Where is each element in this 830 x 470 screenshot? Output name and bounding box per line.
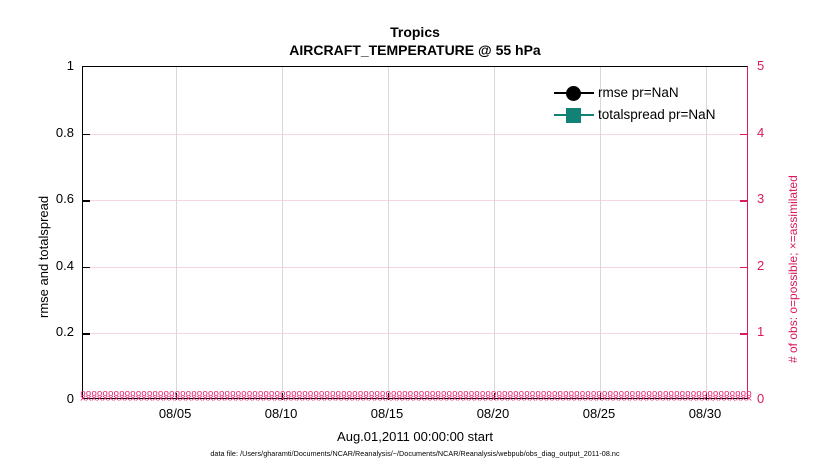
- obs-marker: o: [324, 390, 330, 399]
- obs-marker: o: [380, 390, 386, 399]
- obs-marker: o: [419, 390, 425, 399]
- obs-marker: ×: [346, 395, 354, 404]
- obs-marker: ×: [745, 395, 753, 404]
- obs-marker: ×: [507, 395, 515, 404]
- obs-marker: ×: [307, 395, 315, 404]
- obs-marker: ×: [329, 395, 337, 404]
- obs-marker: ×: [285, 395, 293, 404]
- obs-marker: ×: [584, 395, 592, 404]
- obs-marker: o: [197, 390, 203, 399]
- y-tick-label-left: 0: [34, 392, 74, 405]
- obs-marker: o: [657, 390, 663, 399]
- obs-marker: ×: [429, 395, 437, 404]
- obs-marker: o: [336, 390, 342, 399]
- obs-marker: o: [102, 390, 108, 399]
- obs-marker: o: [546, 390, 552, 399]
- obs-marker: ×: [373, 395, 381, 404]
- obs-marker: ×: [124, 395, 132, 404]
- x-tick-label: 08/30: [665, 407, 745, 420]
- obs-marker: o: [563, 390, 569, 399]
- obs-marker: ×: [312, 395, 320, 404]
- obs-marker: o: [191, 390, 197, 399]
- obs-marker: ×: [573, 395, 581, 404]
- obs-marker: o: [713, 390, 719, 399]
- obs-marker: ×: [712, 395, 720, 404]
- obs-marker: ×: [418, 395, 426, 404]
- obs-marker: ×: [656, 395, 664, 404]
- obs-marker: ×: [668, 395, 676, 404]
- obs-marker: o: [402, 390, 408, 399]
- obs-marker: ×: [479, 395, 487, 404]
- y-tick-label-right: 0: [757, 392, 797, 405]
- obs-marker: o: [330, 390, 336, 399]
- y-tick-label-right: 2: [757, 259, 797, 272]
- obs-marker: ×: [590, 395, 598, 404]
- obs-marker: o: [236, 390, 242, 399]
- obs-marker: o: [186, 390, 192, 399]
- obs-marker: ×: [96, 395, 104, 404]
- obs-marker: ×: [518, 395, 526, 404]
- obs-marker: o: [308, 390, 314, 399]
- obs-marker-band: oooooooooooooooooooooooooooooooooooooooo…: [83, 390, 747, 402]
- x-tick-label: 08/10: [241, 407, 321, 420]
- obs-marker: o: [108, 390, 114, 399]
- y-tick-label-right: 3: [757, 192, 797, 205]
- obs-marker: o: [652, 390, 658, 399]
- obs-marker: ×: [534, 395, 542, 404]
- obs-marker: ×: [618, 395, 626, 404]
- obs-marker: ×: [512, 395, 520, 404]
- obs-marker: o: [347, 390, 353, 399]
- obs-marker: ×: [729, 395, 737, 404]
- gridline-horizontal: [83, 333, 747, 334]
- obs-marker: ×: [740, 395, 748, 404]
- x-tick-mark: [388, 393, 389, 400]
- obs-marker: ×: [423, 395, 431, 404]
- obs-marker: o: [458, 390, 464, 399]
- obs-marker: ×: [706, 395, 714, 404]
- obs-marker: o: [463, 390, 469, 399]
- obs-marker: o: [485, 390, 491, 399]
- obs-marker: o: [313, 390, 319, 399]
- y-tick-label-left: 1: [34, 59, 74, 72]
- obs-marker: o: [541, 390, 547, 399]
- x-tick-label: 08/25: [559, 407, 639, 420]
- obs-marker: o: [397, 390, 403, 399]
- y-axis-label-left: rmse and totalspread: [36, 196, 51, 318]
- obs-marker: o: [619, 390, 625, 399]
- x-tick-label: 08/15: [347, 407, 427, 420]
- obs-marker: ×: [451, 395, 459, 404]
- obs-marker: ×: [601, 395, 609, 404]
- obs-marker: o: [352, 390, 358, 399]
- obs-marker: ×: [484, 395, 492, 404]
- obs-marker: o: [274, 390, 280, 399]
- chart-subtitle: AIRCRAFT_TEMPERATURE @ 55 hPa: [82, 41, 748, 59]
- obs-marker: o: [635, 390, 641, 399]
- obs-marker: ×: [401, 395, 409, 404]
- y-tick-mark-right: [740, 267, 747, 268]
- obs-marker: ×: [679, 395, 687, 404]
- obs-marker: ×: [235, 395, 243, 404]
- obs-marker: ×: [257, 395, 265, 404]
- obs-marker: ×: [251, 395, 259, 404]
- obs-marker: o: [435, 390, 441, 399]
- obs-marker: o: [452, 390, 458, 399]
- y-tick-label-left: 0.6: [34, 192, 74, 205]
- obs-marker: ×: [434, 395, 442, 404]
- obs-marker: ×: [190, 395, 198, 404]
- obs-marker: ×: [734, 395, 742, 404]
- obs-marker: ×: [340, 395, 348, 404]
- obs-marker: o: [163, 390, 169, 399]
- legend-marker-circle: [566, 86, 581, 101]
- obs-marker: o: [724, 390, 730, 399]
- obs-marker: o: [680, 390, 686, 399]
- gridline-vertical: [388, 67, 389, 398]
- chart-legend: rmse pr=NaNtotalspread pr=NaN: [554, 82, 739, 126]
- obs-marker: o: [607, 390, 613, 399]
- obs-marker: o: [358, 390, 364, 399]
- y-tick-mark-left: [83, 267, 90, 268]
- obs-marker: o: [691, 390, 697, 399]
- y-tick-label-right: 4: [757, 126, 797, 139]
- obs-marker: ×: [629, 395, 637, 404]
- obs-marker: o: [180, 390, 186, 399]
- obs-marker: ×: [457, 395, 465, 404]
- x-tick-mark: [600, 393, 601, 400]
- data-file-annotation: data file: /Users/gharamti/Documents/NCA…: [82, 449, 748, 458]
- obs-marker: o: [474, 390, 480, 399]
- obs-marker: ×: [151, 395, 159, 404]
- obs-marker: o: [730, 390, 736, 399]
- obs-marker: o: [213, 390, 219, 399]
- x-tick-label: 08/05: [135, 407, 215, 420]
- obs-marker: o: [552, 390, 558, 399]
- obs-marker: o: [130, 390, 136, 399]
- obs-marker: ×: [723, 395, 731, 404]
- x-tick-mark: [494, 393, 495, 400]
- obs-marker: ×: [262, 395, 270, 404]
- obs-marker: ×: [113, 395, 121, 404]
- obs-marker: o: [685, 390, 691, 399]
- obs-marker: ×: [407, 395, 415, 404]
- obs-marker: o: [519, 390, 525, 399]
- obs-marker: ×: [218, 395, 226, 404]
- y-tick-mark-left: [83, 200, 90, 201]
- obs-marker: o: [696, 390, 702, 399]
- obs-marker: ×: [568, 395, 576, 404]
- obs-marker: ×: [390, 395, 398, 404]
- obs-marker: o: [735, 390, 741, 399]
- obs-marker: o: [641, 390, 647, 399]
- y-tick-label-left: 0.2: [34, 325, 74, 338]
- y-tick-mark-right: [740, 200, 747, 201]
- obs-marker: o: [341, 390, 347, 399]
- obs-marker: ×: [301, 395, 309, 404]
- obs-marker: ×: [612, 395, 620, 404]
- y-tick-mark-left: [83, 134, 90, 135]
- obs-marker: o: [286, 390, 292, 399]
- obs-marker: o: [136, 390, 142, 399]
- obs-marker: ×: [162, 395, 170, 404]
- obs-marker: o: [585, 390, 591, 399]
- obs-marker: ×: [101, 395, 109, 404]
- obs-marker: ×: [90, 395, 98, 404]
- obs-marker: ×: [462, 395, 470, 404]
- y-tick-mark-right: [740, 134, 747, 135]
- obs-marker: o: [447, 390, 453, 399]
- obs-marker: ×: [85, 395, 93, 404]
- obs-marker: o: [741, 390, 747, 399]
- obs-marker: ×: [229, 395, 237, 404]
- obs-marker: ×: [634, 395, 642, 404]
- obs-marker: ×: [135, 395, 143, 404]
- obs-marker: o: [202, 390, 208, 399]
- obs-marker: ×: [440, 395, 448, 404]
- obs-marker: o: [258, 390, 264, 399]
- chart-figure: Tropics AIRCRAFT_TEMPERATURE @ 55 hPa rm…: [0, 0, 830, 470]
- obs-marker: ×: [185, 395, 193, 404]
- obs-marker: o: [230, 390, 236, 399]
- obs-marker: o: [302, 390, 308, 399]
- obs-marker: o: [125, 390, 131, 399]
- obs-marker: ×: [246, 395, 254, 404]
- gridline-horizontal: [83, 134, 747, 135]
- gridline-horizontal: [83, 200, 747, 201]
- legend-label: rmse pr=NaN: [598, 84, 679, 101]
- obs-marker: ×: [606, 395, 614, 404]
- obs-marker: o: [291, 390, 297, 399]
- obs-marker: ×: [446, 395, 454, 404]
- obs-marker: o: [469, 390, 475, 399]
- obs-marker: ×: [473, 395, 481, 404]
- obs-marker: o: [225, 390, 231, 399]
- obs-marker: o: [91, 390, 97, 399]
- obs-marker: o: [319, 390, 325, 399]
- obs-marker: o: [269, 390, 275, 399]
- obs-marker: o: [480, 390, 486, 399]
- legend-marker-square: [566, 108, 581, 123]
- obs-marker: o: [569, 390, 575, 399]
- x-axis-label: Aug.01,2011 00:00:00 start: [82, 429, 748, 444]
- obs-marker: o: [97, 390, 103, 399]
- obs-marker: ×: [318, 395, 326, 404]
- obs-marker: o: [630, 390, 636, 399]
- obs-marker: ×: [662, 395, 670, 404]
- obs-marker: ×: [684, 395, 692, 404]
- obs-marker: o: [80, 390, 86, 399]
- obs-marker: ×: [623, 395, 631, 404]
- obs-marker: o: [624, 390, 630, 399]
- obs-marker: ×: [412, 395, 420, 404]
- obs-marker: o: [746, 390, 752, 399]
- obs-marker: o: [297, 390, 303, 399]
- obs-marker: o: [119, 390, 125, 399]
- obs-marker: o: [502, 390, 508, 399]
- obs-marker: ×: [323, 395, 331, 404]
- obs-marker: o: [574, 390, 580, 399]
- obs-marker: o: [408, 390, 414, 399]
- obs-marker: ×: [290, 395, 298, 404]
- gridline-horizontal: [83, 267, 747, 268]
- obs-marker: ×: [362, 395, 370, 404]
- obs-marker: ×: [645, 395, 653, 404]
- obs-marker: o: [247, 390, 253, 399]
- obs-marker: ×: [118, 395, 126, 404]
- obs-marker: ×: [201, 395, 209, 404]
- obs-marker: o: [369, 390, 375, 399]
- obs-marker: ×: [240, 395, 248, 404]
- obs-marker: ×: [495, 395, 503, 404]
- obs-marker: o: [252, 390, 258, 399]
- obs-marker: ×: [579, 395, 587, 404]
- gridline-vertical: [494, 67, 495, 398]
- legend-label: totalspread pr=NaN: [598, 106, 715, 123]
- obs-marker: o: [413, 390, 419, 399]
- obs-marker: o: [524, 390, 530, 399]
- obs-marker: o: [363, 390, 369, 399]
- obs-marker: o: [602, 390, 608, 399]
- obs-marker: ×: [545, 395, 553, 404]
- legend-item[interactable]: rmse pr=NaN: [554, 82, 739, 104]
- obs-marker: ×: [557, 395, 565, 404]
- obs-marker: o: [424, 390, 430, 399]
- y-tick-mark-left: [83, 333, 90, 334]
- obs-marker: ×: [296, 395, 304, 404]
- x-tick-mark: [706, 393, 707, 400]
- obs-marker: o: [147, 390, 153, 399]
- y-tick-label-left: 0.4: [34, 259, 74, 272]
- obs-marker: ×: [224, 395, 232, 404]
- obs-marker: ×: [396, 395, 404, 404]
- obs-marker: o: [530, 390, 536, 399]
- obs-marker: ×: [129, 395, 137, 404]
- obs-marker: ×: [501, 395, 509, 404]
- obs-marker: o: [674, 390, 680, 399]
- y-tick-label-right: 5: [757, 59, 797, 72]
- x-tick-mark: [282, 393, 283, 400]
- obs-marker: o: [208, 390, 214, 399]
- obs-marker: o: [430, 390, 436, 399]
- obs-marker: ×: [529, 395, 537, 404]
- obs-marker: o: [496, 390, 502, 399]
- obs-marker: ×: [168, 395, 176, 404]
- obs-marker: ×: [79, 395, 87, 404]
- obs-marker: ×: [107, 395, 115, 404]
- obs-marker: ×: [379, 395, 387, 404]
- obs-marker: o: [718, 390, 724, 399]
- obs-marker: o: [219, 390, 225, 399]
- obs-marker: o: [374, 390, 380, 399]
- obs-marker: o: [580, 390, 586, 399]
- y-tick-mark-right: [740, 333, 747, 334]
- obs-marker: ×: [335, 395, 343, 404]
- obs-marker: o: [646, 390, 652, 399]
- obs-marker: ×: [368, 395, 376, 404]
- obs-marker: ×: [273, 395, 281, 404]
- obs-marker: ×: [651, 395, 659, 404]
- obs-marker: o: [663, 390, 669, 399]
- y-tick-label-left: 0.8: [34, 126, 74, 139]
- gridline-vertical: [282, 67, 283, 398]
- obs-marker: o: [441, 390, 447, 399]
- y-tick-label-right: 1: [757, 325, 797, 338]
- obs-marker: o: [669, 390, 675, 399]
- obs-marker: ×: [157, 395, 165, 404]
- chart-title-block: Tropics AIRCRAFT_TEMPERATURE @ 55 hPa: [82, 24, 748, 59]
- obs-marker: o: [707, 390, 713, 399]
- obs-marker: o: [263, 390, 269, 399]
- obs-marker: o: [169, 390, 175, 399]
- obs-marker: ×: [562, 395, 570, 404]
- obs-marker: ×: [351, 395, 359, 404]
- obs-marker: ×: [717, 395, 725, 404]
- obs-marker: o: [141, 390, 147, 399]
- obs-marker: ×: [673, 395, 681, 404]
- obs-marker: ×: [690, 395, 698, 404]
- x-tick-label: 08/20: [453, 407, 533, 420]
- obs-marker: o: [535, 390, 541, 399]
- obs-marker-row: oooooooooooooooooooooooooooooooooooooooo…: [83, 390, 747, 399]
- obs-marker: ×: [357, 395, 365, 404]
- obs-marker: ×: [523, 395, 531, 404]
- obs-marker: o: [558, 390, 564, 399]
- obs-marker: o: [158, 390, 164, 399]
- x-tick-mark: [176, 393, 177, 400]
- obs-marker: o: [508, 390, 514, 399]
- obs-marker: ×: [179, 395, 187, 404]
- obs-marker: o: [152, 390, 158, 399]
- obs-marker-row: ××××××××××××××××××××××××××××××××××××××××…: [83, 395, 747, 404]
- obs-marker: ×: [207, 395, 215, 404]
- obs-marker: ×: [540, 395, 548, 404]
- obs-marker: ×: [212, 395, 220, 404]
- obs-marker: o: [513, 390, 519, 399]
- obs-marker: ×: [640, 395, 648, 404]
- gridline-vertical: [176, 67, 177, 398]
- chart-title: Tropics: [82, 24, 748, 41]
- obs-marker: ×: [146, 395, 154, 404]
- obs-marker: o: [114, 390, 120, 399]
- obs-marker: o: [613, 390, 619, 399]
- obs-marker: ×: [140, 395, 148, 404]
- legend-item[interactable]: totalspread pr=NaN: [554, 104, 739, 126]
- obs-marker: o: [391, 390, 397, 399]
- obs-marker: ×: [196, 395, 204, 404]
- obs-marker: ×: [551, 395, 559, 404]
- obs-marker: o: [86, 390, 92, 399]
- obs-marker: o: [241, 390, 247, 399]
- obs-marker: o: [591, 390, 597, 399]
- obs-marker: ×: [695, 395, 703, 404]
- obs-marker: ×: [268, 395, 276, 404]
- obs-marker: ×: [468, 395, 476, 404]
